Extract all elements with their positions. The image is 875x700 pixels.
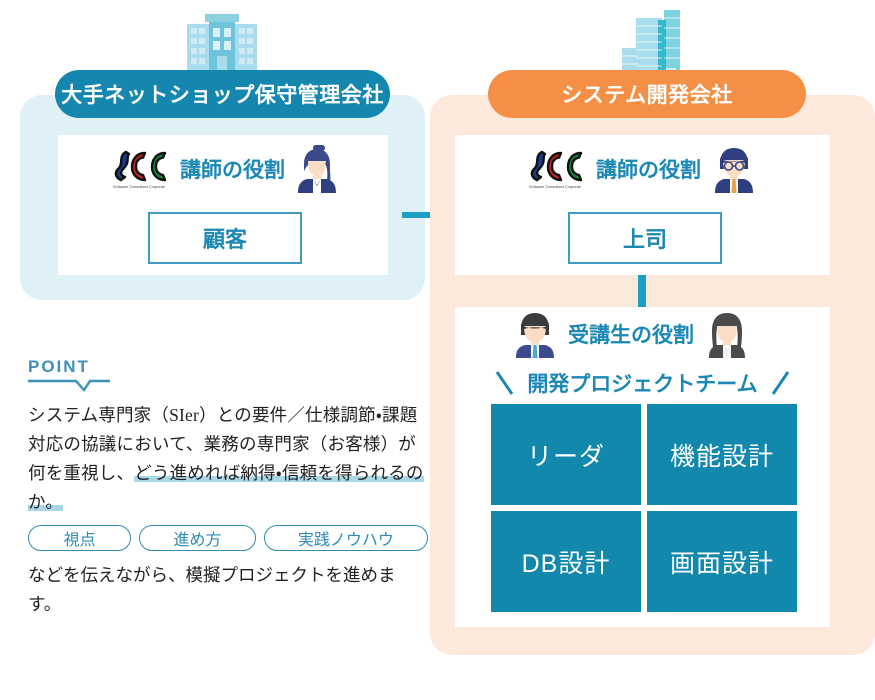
point-tag-approach[interactable]: 進め方 (139, 525, 256, 551)
team-role-grid: リーダ 機能設計 DB設計 画面設計 (491, 404, 797, 612)
left-role-row: Software Consultant Corporation 講師の役割 (112, 145, 339, 193)
team-title-label: 開発プロジェクトチーム (527, 368, 757, 398)
left-slash-icon (495, 370, 515, 396)
female-instructor-avatar (295, 145, 339, 193)
male-instructor-avatar (711, 145, 757, 193)
scc-logo-icon: Software Consultant Corporation (112, 149, 170, 189)
point-footer-text: などを伝えながら、模擬プロジェクトを進めます。 (28, 561, 428, 619)
customer-box: 顧客 (148, 212, 302, 264)
point-tag-knowhow[interactable]: 実践ノウハウ (264, 525, 428, 551)
male-student-avatar (512, 310, 558, 358)
vertical-connector (638, 275, 646, 307)
scc-logo-caption: Software Consultant Corporation (529, 184, 581, 190)
right-company-header: システム開発会社 (488, 70, 806, 118)
point-tag-list: 視点 進め方 実践ノウハウ (28, 525, 428, 551)
skyscraper-icon (620, 6, 692, 76)
point-body-text: システム専門家（SIer）との要件／仕様調節・課題対応の協議において、業務の専門… (28, 401, 428, 517)
left-company-header: 大手ネットショップ保守管理会社 (55, 70, 390, 118)
point-tag-viewpoint[interactable]: 視点 (28, 525, 131, 551)
team-title-row: 開発プロジェクトチーム (455, 368, 830, 398)
right-role-row: Software Consultant Corporation 講師の役割 (528, 145, 757, 193)
diagram-canvas: 大手ネットショップ保守管理会社 Software Consultant Corp… (0, 0, 875, 700)
team-cell-function-design[interactable]: 機能設計 (647, 404, 797, 505)
female-student-avatar (704, 310, 750, 358)
team-cell-screen-design[interactable]: 画面設計 (647, 511, 797, 612)
right-role-label: 講師の役割 (596, 154, 701, 184)
point-label: POINT (28, 357, 428, 377)
boss-box: 上司 (568, 212, 722, 264)
scc-logo-icon: Software Consultant Corporation (528, 149, 586, 189)
students-role-row: 受講生の役割 (512, 310, 750, 358)
team-cell-db-design[interactable]: DB設計 (491, 511, 641, 612)
students-role-label: 受講生の役割 (568, 319, 694, 349)
left-role-label: 講師の役割 (180, 154, 285, 184)
point-underline-icon (28, 378, 110, 392)
right-slash-icon (770, 370, 790, 396)
scc-logo-caption: Software Consultant Corporation (113, 184, 165, 190)
team-cell-leader[interactable]: リーダ (491, 404, 641, 505)
point-section: POINT システム専門家（SIer）との要件／仕様調節・課題対応の協議において… (28, 357, 428, 619)
office-building-icon (183, 12, 261, 74)
